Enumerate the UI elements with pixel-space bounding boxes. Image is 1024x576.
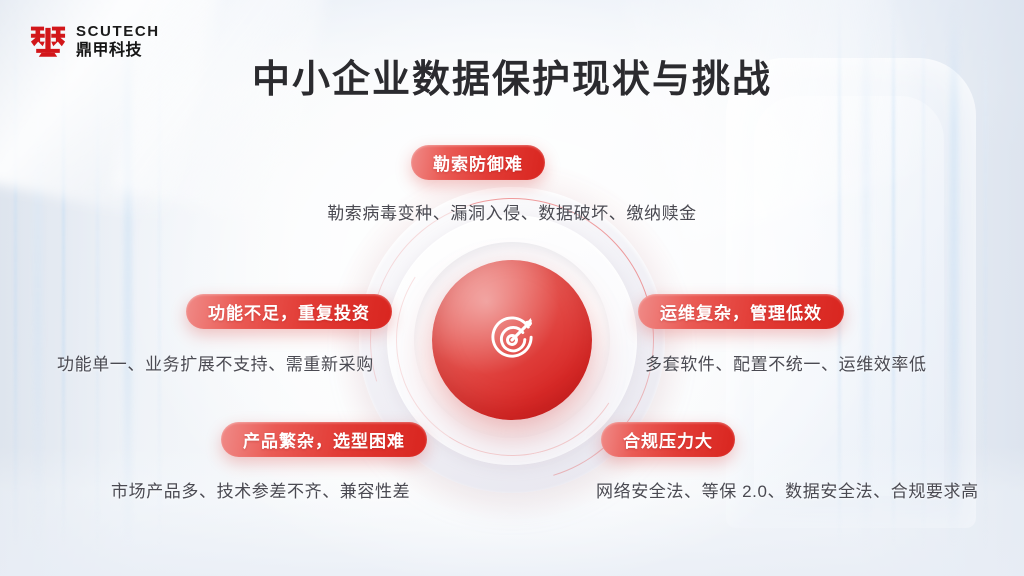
- page-title: 中小企业数据保护现状与挑战: [0, 48, 1024, 103]
- badge-insufficient-features[interactable]: 功能不足，重复投资: [186, 294, 392, 329]
- caption-compliance-pressure: 网络安全法、等保 2.0、数据安全法、合规要求高: [596, 477, 979, 502]
- caption-complex-operations: 多套软件、配置不统一、运维效率低: [645, 350, 927, 375]
- brand-name-en: SCUTECH: [76, 24, 160, 39]
- badge-ransomware[interactable]: 勒索防御难: [411, 145, 545, 180]
- slide-root: SCUTECH 鼎甲科技 中小企业数据保护现状与挑战: [0, 0, 1024, 576]
- badge-product-selection[interactable]: 产品繁杂，选型困难: [221, 422, 427, 457]
- center-core-circle: [432, 260, 592, 420]
- caption-product-selection: 市场产品多、技术参差不齐、兼容性差: [111, 477, 410, 502]
- caption-ransomware: 勒索病毒变种、漏洞入侵、数据破坏、缴纳赎金: [0, 199, 1024, 224]
- caption-insufficient-features: 功能单一、业务扩展不支持、需重新采购: [57, 350, 374, 375]
- background-arch-outer: [726, 58, 976, 528]
- badge-complex-operations[interactable]: 运维复杂，管理低效: [638, 294, 844, 329]
- badge-compliance-pressure[interactable]: 合规压力大: [601, 422, 735, 457]
- target-arrow-icon: [485, 313, 539, 367]
